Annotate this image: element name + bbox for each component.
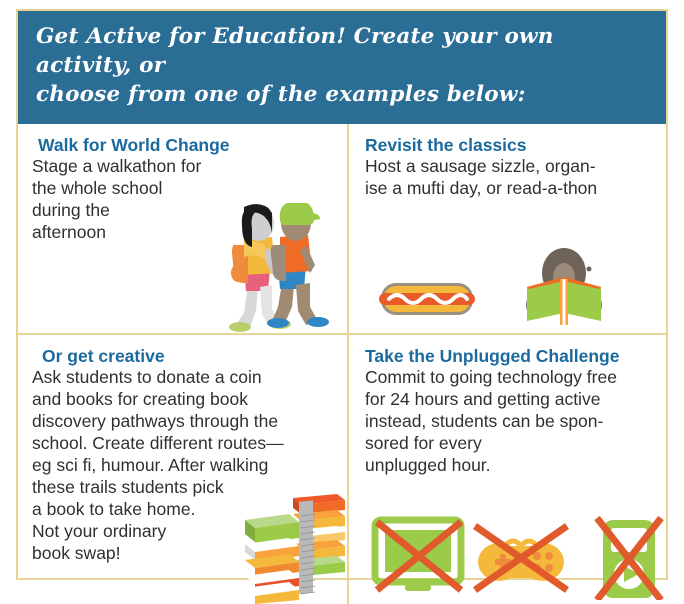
- no-media-player-icon: [597, 518, 661, 600]
- poster-header: Get Active for Education! Create your ow…: [18, 11, 666, 124]
- panel-title-revisit-the-classics: Revisit the classics: [365, 135, 654, 156]
- no-gaming-icon: [475, 526, 567, 590]
- panel-title-walk-for-world-change: Walk for World Change: [38, 135, 335, 156]
- panel-revisit-the-classics: Revisit the classics Host a sausage sizz…: [347, 124, 666, 333]
- walking-students-icon: [214, 203, 344, 333]
- poster-header-title: Get Active for Education! Create your ow…: [36, 22, 650, 110]
- hotdog-icon: [379, 273, 475, 323]
- panel-body-take-the-unplugged-challenge: Commit to going technology free for 24 h…: [365, 367, 654, 477]
- no-television-icon: [375, 520, 461, 591]
- panel-title-or-get-creative: Or get creative: [42, 346, 335, 367]
- panel-or-get-creative: Or get creative Ask students to donate a…: [18, 333, 347, 604]
- book-stack-icon: [241, 492, 347, 604]
- no-screens-icons: [369, 514, 666, 600]
- reading-person-icon: [521, 247, 607, 329]
- panel-take-the-unplugged-challenge: Take the Unplugged Challenge Commit to g…: [347, 333, 666, 604]
- panel-title-take-the-unplugged-challenge: Take the Unplugged Challenge: [365, 346, 654, 367]
- poster-card: Get Active for Education! Create your ow…: [16, 9, 668, 580]
- activity-grid: Walk for World Change Stage a walkathon …: [18, 124, 666, 604]
- panel-walk-for-world-change: Walk for World Change Stage a walkathon …: [18, 124, 347, 333]
- panel-body-revisit-the-classics: Host a sausage sizzle, organ- ise a muft…: [365, 156, 654, 200]
